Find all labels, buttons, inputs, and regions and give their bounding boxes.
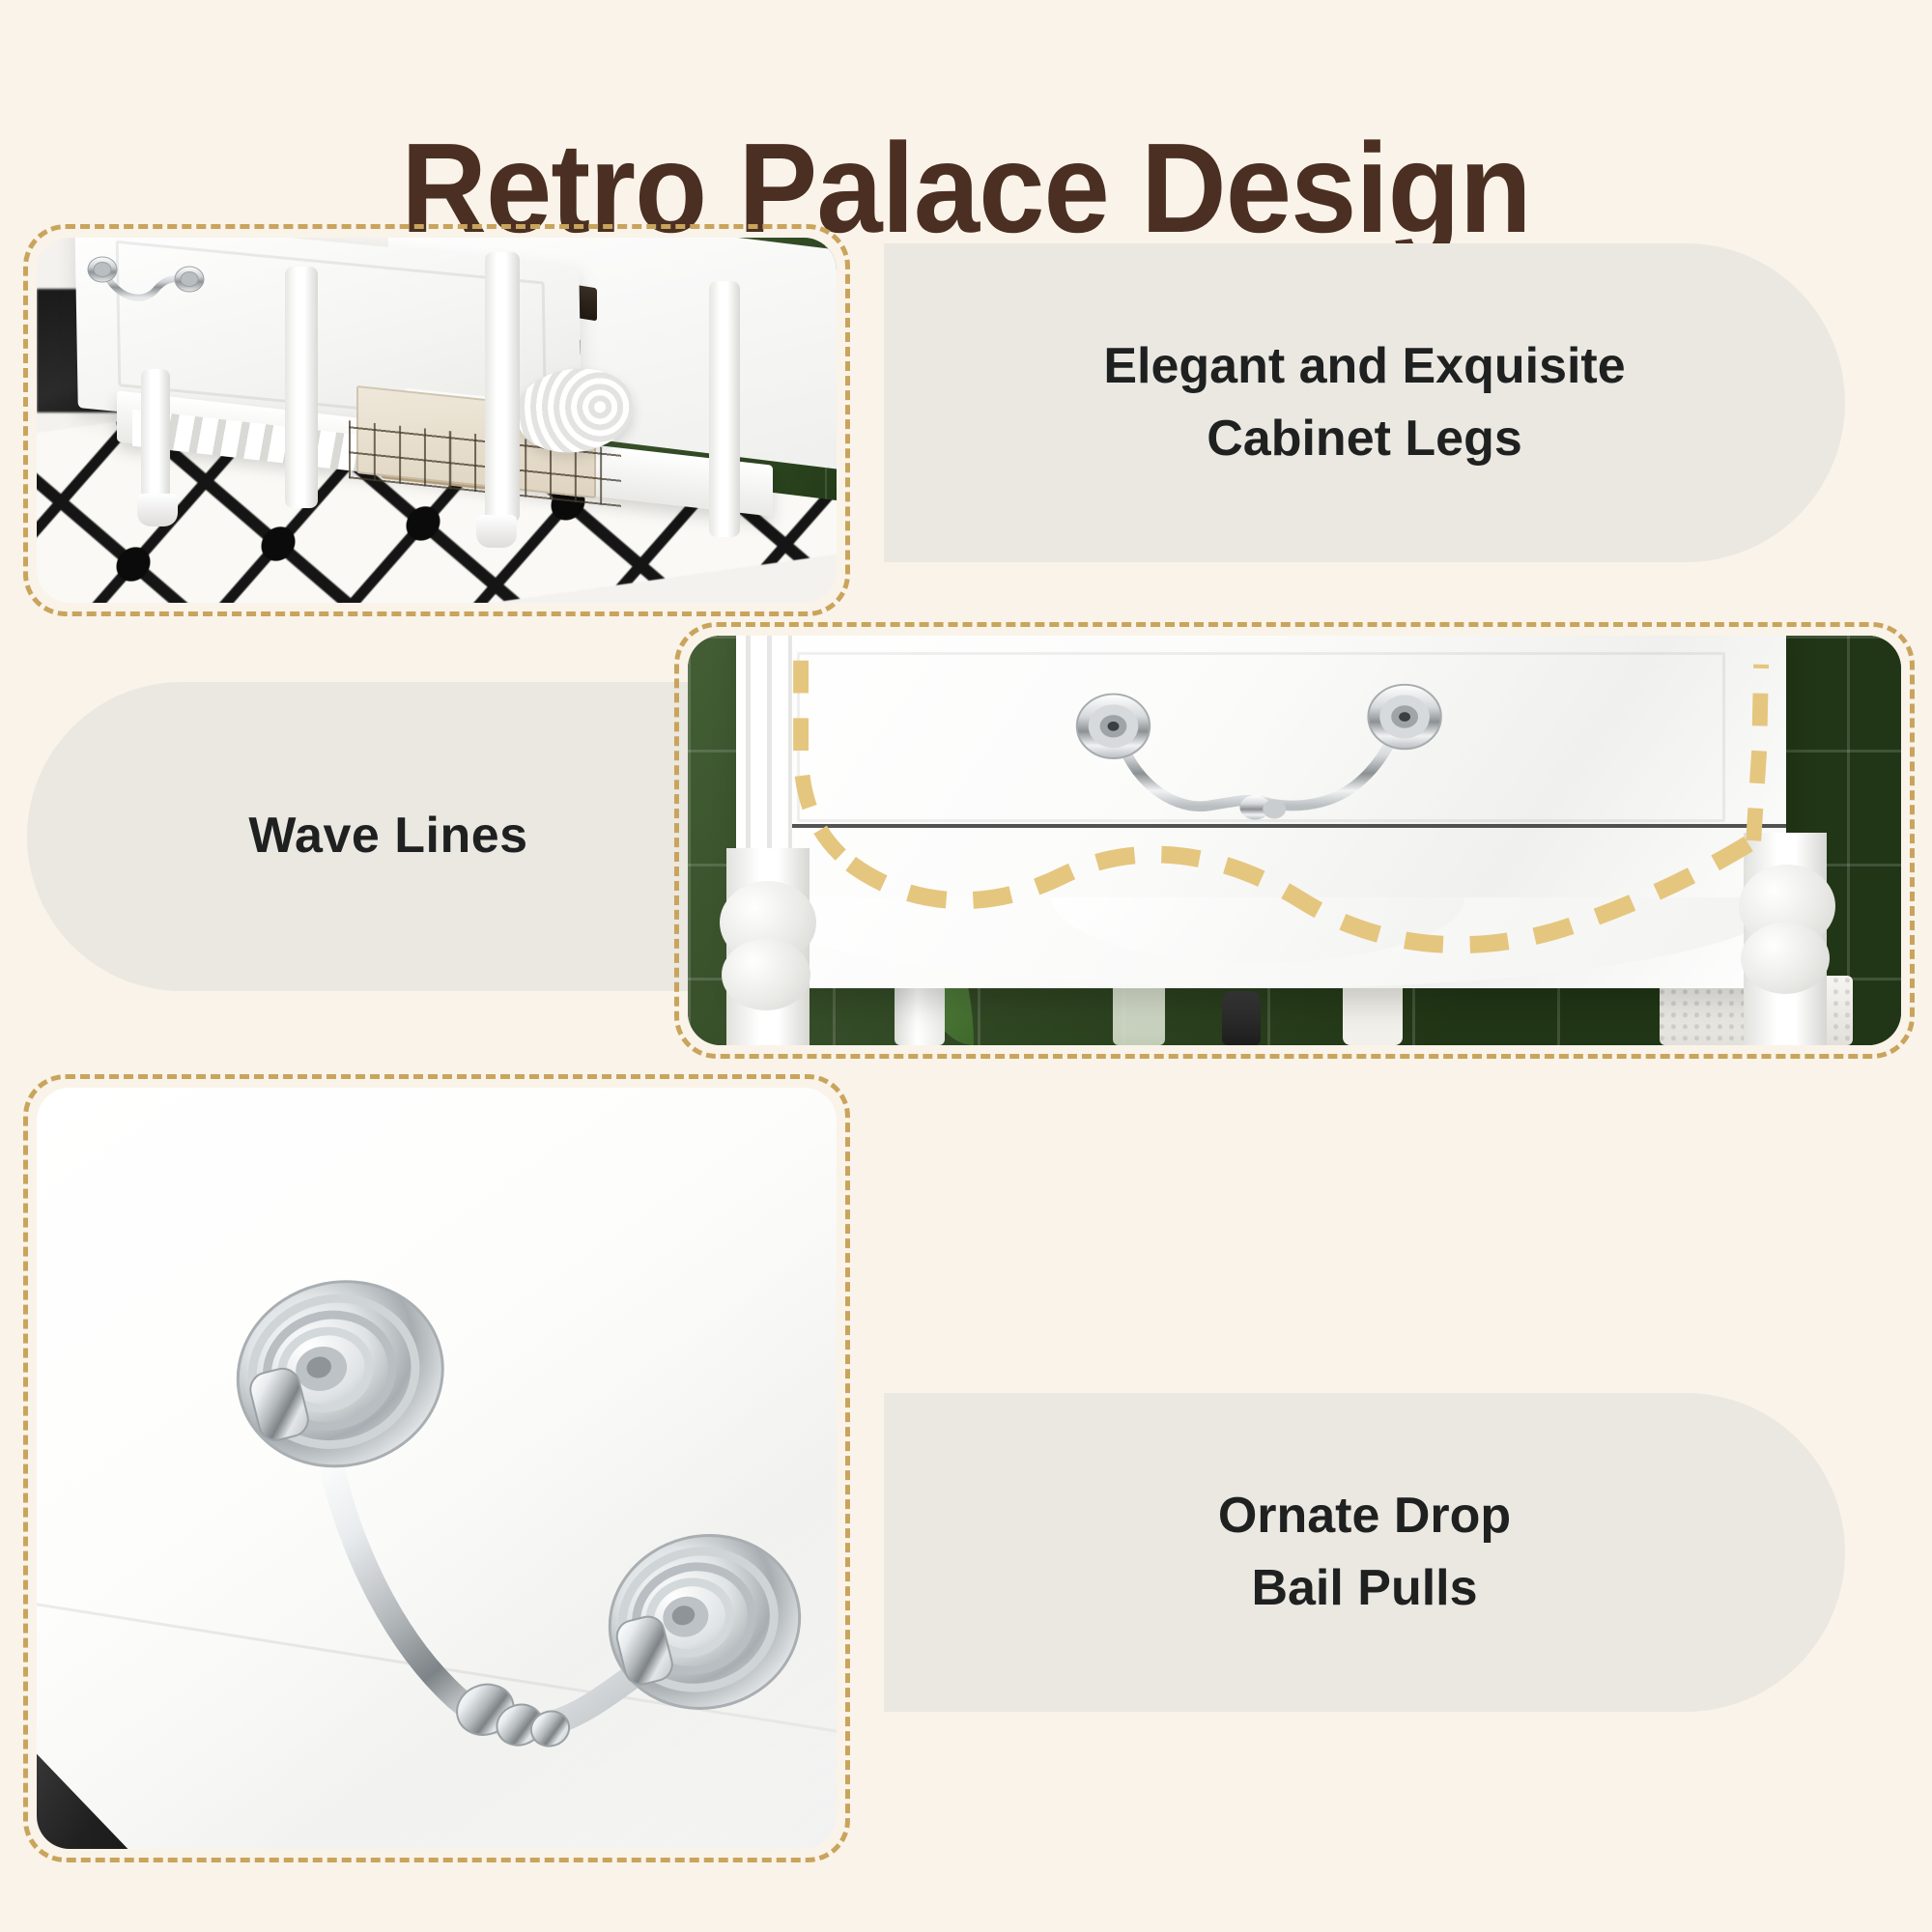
infographic-stage: Retro Palace Design (0, 0, 1932, 1932)
feature-panel-wave-lines: Wave Lines (27, 682, 750, 991)
photo-bail-pulls (37, 1088, 837, 1849)
cabinet-leg-front-left (141, 369, 170, 500)
cabinet-foot-right (476, 515, 517, 548)
wave-line-annotation (688, 636, 1901, 1045)
photo-frame-cabinet-legs (23, 224, 850, 616)
cabinet-foot-left (137, 494, 178, 526)
bail-pull-icon (37, 1088, 837, 1849)
cabinet-leg-far-right (709, 281, 740, 537)
photo-wave-lines (688, 636, 1901, 1045)
photo-cabinet-legs (37, 238, 837, 603)
photo-frame-bail-pulls (23, 1074, 850, 1862)
bail-pull-icon (85, 256, 211, 308)
feature-label-cabinet-legs: Elegant and Exquisite Cabinet Legs (1103, 330, 1625, 476)
feature-label-bail-pulls: Ornate Drop Bail Pulls (1218, 1480, 1511, 1626)
cabinet-leg-mid-right (485, 252, 520, 523)
cabinet-leg-mid-left (285, 267, 318, 507)
feature-panel-cabinet-legs: Elegant and Exquisite Cabinet Legs (884, 243, 1845, 562)
feature-panel-bail-pulls: Ornate Drop Bail Pulls (884, 1393, 1845, 1712)
photo-frame-wave-lines (674, 622, 1915, 1059)
feature-label-wave-lines: Wave Lines (248, 800, 527, 872)
